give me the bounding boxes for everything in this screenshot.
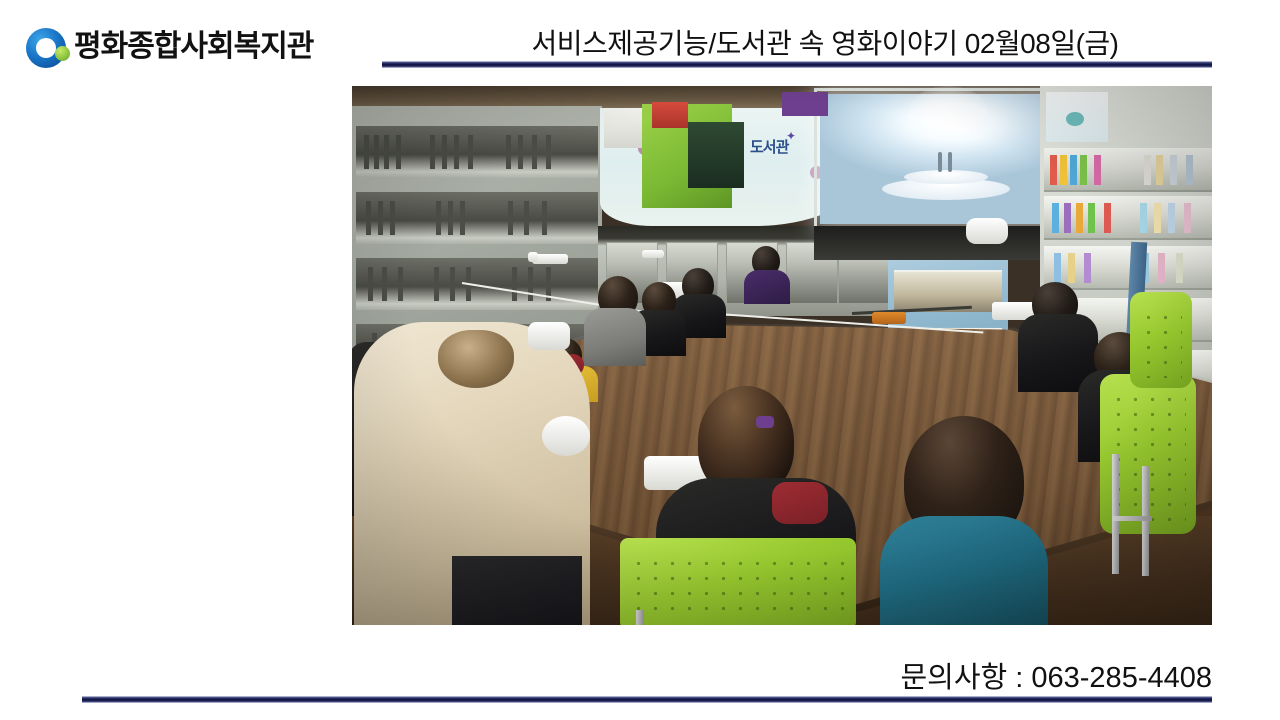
footer-divider-rule	[82, 696, 1212, 703]
photo-chair-leg	[1112, 454, 1119, 574]
photo-white-mitten	[542, 416, 590, 456]
photo-screen-podium-top	[904, 170, 988, 184]
photo-table-object-paper	[642, 250, 664, 258]
photo-green-chair	[620, 538, 856, 625]
photo-person-body-teal	[880, 516, 1048, 625]
photo-display-cabinet-dark	[688, 122, 744, 188]
photo-screen-glow	[908, 86, 988, 140]
photo-person-arm-white	[966, 218, 1008, 244]
header-divider-rule	[382, 61, 1212, 68]
photo-screen-figure	[948, 152, 952, 172]
slide-canvas: 평화종합사회복지관 서비스제공기능/도서관 속 영화이야기 02월08일(금)	[0, 0, 1280, 720]
photo-projection-screen	[820, 94, 1070, 224]
organization-logo: 평화종합사회복지관	[26, 26, 313, 70]
photo-green-chair	[1130, 292, 1192, 388]
photo-person-body	[584, 308, 646, 366]
photo-chair-leg	[636, 610, 644, 625]
photo-fur-hood	[438, 330, 514, 388]
photo-display-cabinet-red	[652, 102, 688, 128]
photo-person-pants-dark	[452, 556, 582, 625]
photo-small-object	[528, 252, 538, 262]
photo-person-top-red	[772, 482, 828, 524]
photo-purple-panel	[782, 92, 828, 116]
photo-person-body	[744, 270, 790, 304]
organization-name: 평화종합사회복지관	[74, 32, 313, 64]
photo-table-object-orange	[872, 312, 906, 324]
event-photo: ✦ ✦ ✦ ✦ ✦ 꿈 도서관 책	[352, 86, 1212, 625]
photo-screen-figure	[938, 152, 942, 172]
logo-green-dot-shape	[55, 46, 70, 61]
photo-chair-leg	[1142, 466, 1149, 576]
page-title: 서비스제공기능/도서관 속 영화이야기 02월08일(금)	[430, 22, 1220, 62]
photo-phone-white	[528, 322, 570, 350]
circle-dot-logo-icon	[26, 26, 70, 70]
contact-info: 문의사항 : 063-285-4408	[700, 654, 1212, 696]
photo-hair-tie	[756, 416, 774, 428]
photo-chair-leg	[1112, 516, 1152, 521]
